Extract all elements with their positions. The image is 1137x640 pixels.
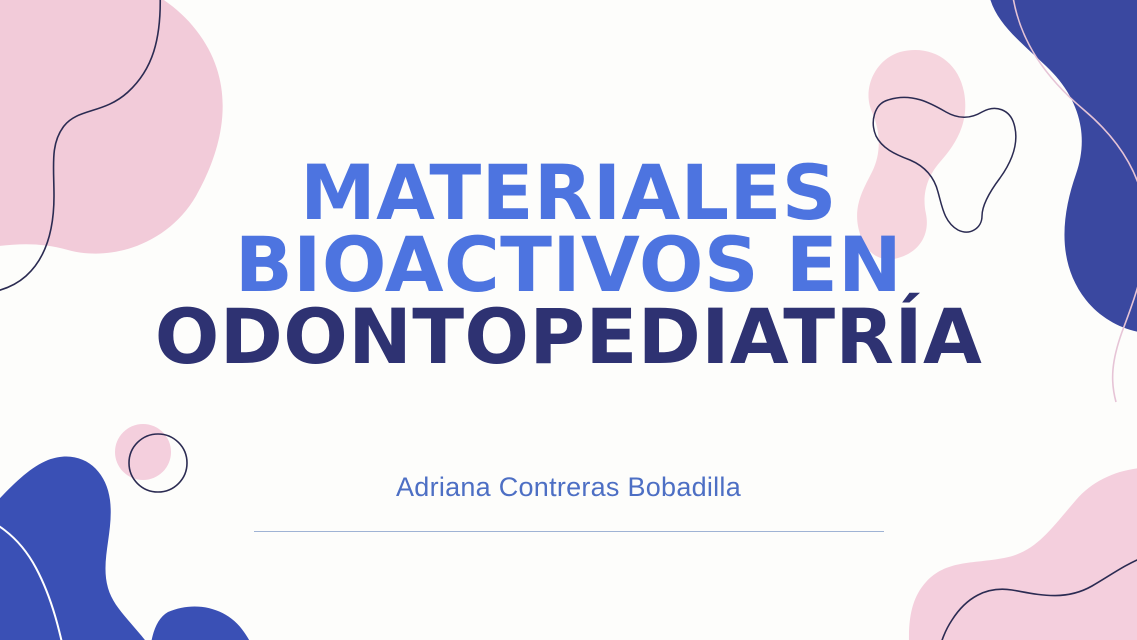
title-line-1: MATERIALES — [0, 158, 1137, 228]
page-title: MATERIALES BIOACTIVOS EN ODONTOPEDIATRÍA — [0, 158, 1137, 372]
title-slide: MATERIALES BIOACTIVOS EN ODONTOPEDIATRÍA… — [0, 0, 1137, 640]
title-divider — [254, 531, 884, 532]
slide-content: MATERIALES BIOACTIVOS EN ODONTOPEDIATRÍA… — [0, 0, 1137, 640]
title-line-2: BIOACTIVOS EN — [0, 230, 1137, 300]
title-line-3: ODONTOPEDIATRÍA — [0, 302, 1137, 372]
author-subtitle: Adriana Contreras Bobadilla — [0, 472, 1137, 503]
